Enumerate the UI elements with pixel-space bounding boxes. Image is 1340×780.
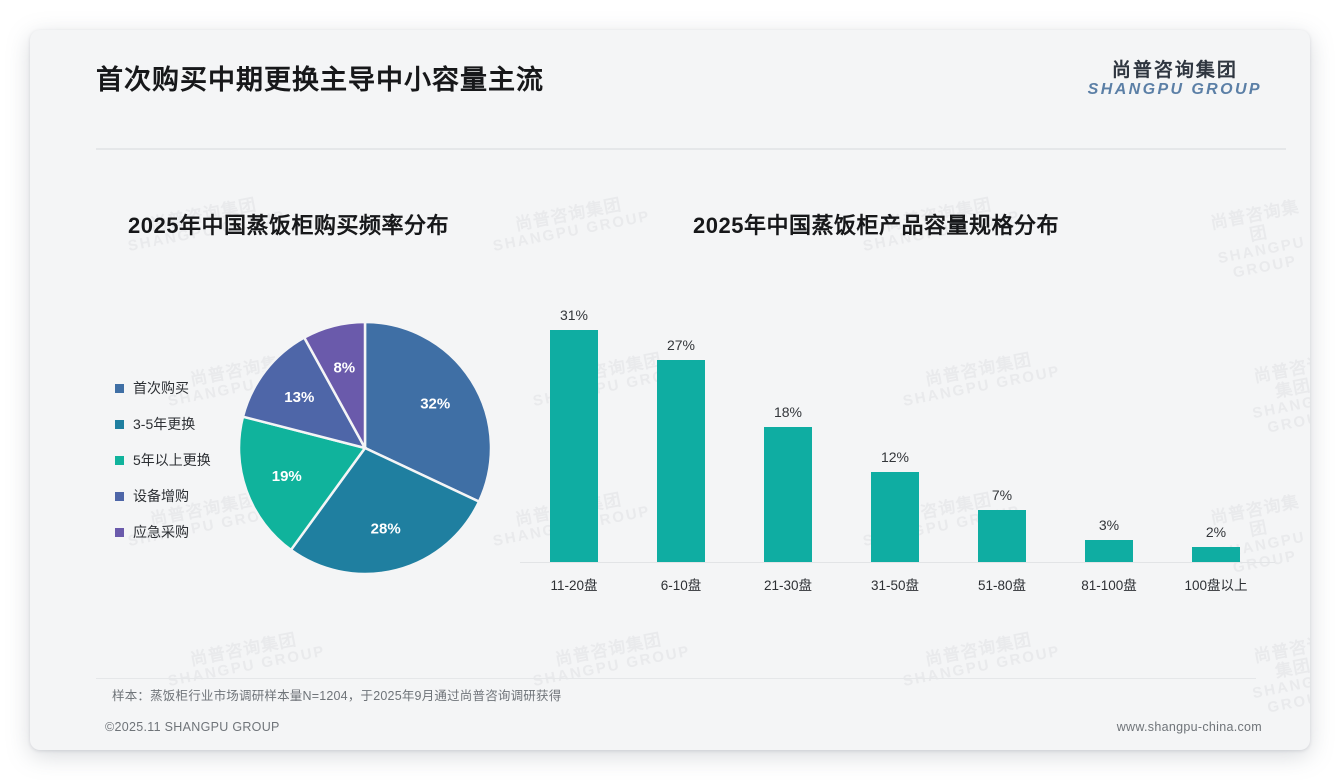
- watermark-text-en: SHANGPU GROUP: [532, 644, 692, 691]
- pie-chart-panel: 首次购买3-5年更换5年以上更换设备增购应急采购 32%28%19%13%8%: [70, 280, 540, 620]
- watermark-text-cn: 尚普咨询集团: [163, 625, 324, 674]
- bar-rect[interactable]: [871, 472, 919, 562]
- bar-value-label: 18%: [774, 404, 802, 420]
- bar-rect[interactable]: [1085, 540, 1133, 562]
- pie-legend-label: 3-5年更换: [133, 414, 195, 434]
- pie-slice-label: 28%: [371, 521, 401, 538]
- pie-chart: 32%28%19%13%8%: [235, 318, 495, 578]
- bar-column[interactable]: 27%: [637, 280, 725, 562]
- source-divider: [96, 678, 1256, 679]
- bar-axis-baseline: [520, 562, 1275, 563]
- pie-chart-title: 2025年中国蒸饭柜购买频率分布: [128, 208, 449, 240]
- watermark-text-en: SHANGPU GROUP: [167, 644, 327, 691]
- watermark-tile: 尚普咨询集团SHANGPU GROUP: [898, 625, 1062, 691]
- watermark-tile: 尚普咨询集团SHANGPU GROUP: [488, 190, 652, 256]
- legend-swatch-icon: [115, 384, 124, 393]
- company-logo: 尚普咨询集团 SHANGPU GROUP: [1088, 60, 1262, 99]
- bar-category-label: 81-100盘: [1065, 574, 1153, 594]
- watermark-tile: 尚普咨询集团SHANGPU GROUP: [528, 625, 692, 691]
- bar-column[interactable]: 31%: [530, 280, 618, 562]
- bar-category-label: 31-50盘: [851, 574, 939, 594]
- bar-chart-panel: 31%11-20盘27%6-10盘18%21-30盘12%31-50盘7%51-…: [490, 280, 1280, 610]
- pie-legend-item[interactable]: 3-5年更换: [115, 406, 255, 442]
- pie-slice-label: 13%: [284, 389, 314, 406]
- pie-legend-item[interactable]: 应急采购: [115, 514, 255, 550]
- footer-website: www.shangpu-china.com: [1117, 720, 1262, 734]
- watermark-text-cn: 尚普咨询集团: [488, 190, 649, 239]
- pie-legend: 首次购买3-5年更换5年以上更换设备增购应急采购: [115, 370, 255, 550]
- pie-legend-item[interactable]: 首次购买: [115, 370, 255, 406]
- watermark-text-en: SHANGPU GROUP: [1211, 233, 1310, 285]
- bar-value-label: 7%: [992, 487, 1012, 503]
- watermark-text-en: SHANGPU GROUP: [1251, 670, 1310, 720]
- watermark-tile: 尚普咨询集团SHANGPU GROUP: [1204, 196, 1310, 285]
- pie-legend-label: 首次购买: [133, 378, 189, 398]
- bar-column[interactable]: 7%: [958, 280, 1046, 562]
- pie-legend-label: 设备增购: [133, 486, 189, 506]
- pie-legend-label: 5年以上更换: [133, 450, 211, 470]
- pie-legend-item[interactable]: 设备增购: [115, 478, 255, 514]
- bar-category-label: 100盘以上: [1172, 574, 1260, 594]
- bar-category-label: 51-80盘: [958, 574, 1046, 594]
- bar-category-label: 21-30盘: [744, 574, 832, 594]
- bar-value-label: 27%: [667, 337, 695, 353]
- watermark-text-en: SHANGPU GROUP: [902, 644, 1062, 691]
- pie-slice-label: 32%: [420, 395, 450, 412]
- watermark-text-cn: 尚普咨询集团: [898, 625, 1059, 674]
- header-divider: [96, 148, 1286, 150]
- bar-rect[interactable]: [978, 510, 1026, 562]
- bar-column[interactable]: 18%: [744, 280, 832, 562]
- bar-value-label: 3%: [1099, 517, 1119, 533]
- bar-rect[interactable]: [550, 330, 598, 562]
- source-note: 样本：蒸饭柜行业市场调研样本量N=1204，于2025年9月通过尚普咨询调研获得: [112, 685, 561, 704]
- watermark-text-cn: 尚普咨询集团: [1204, 196, 1309, 252]
- logo-label-cn: 尚普咨询集团: [1088, 60, 1262, 81]
- slide-header: 首次购买中期更换主导中小容量主流 尚普咨询集团 SHANGPU GROUP: [30, 30, 1310, 122]
- legend-swatch-icon: [115, 456, 124, 465]
- page-title: 首次购买中期更换主导中小容量主流: [96, 58, 544, 97]
- footer-copyright: ©2025.11 SHANGPU GROUP: [105, 720, 280, 734]
- pie-slice-label: 8%: [333, 359, 355, 376]
- bar-category-label: 11-20盘: [530, 574, 618, 594]
- legend-swatch-icon: [115, 420, 124, 429]
- bar-plot-area: 31%11-20盘27%6-10盘18%21-30盘12%31-50盘7%51-…: [520, 280, 1270, 562]
- bar-column[interactable]: 2%: [1172, 280, 1260, 562]
- bar-category-label: 6-10盘: [637, 574, 725, 594]
- pie-chart-svg: 32%28%19%13%8%: [235, 318, 495, 578]
- pie-legend-label: 应急采购: [133, 522, 189, 542]
- watermark-text-cn: 尚普咨询集团: [528, 625, 689, 674]
- bar-rect[interactable]: [1192, 547, 1240, 562]
- legend-swatch-icon: [115, 492, 124, 501]
- bar-value-label: 31%: [560, 307, 588, 323]
- bar-value-label: 12%: [881, 449, 909, 465]
- pie-slice-label: 19%: [272, 468, 302, 485]
- watermark-text-en: SHANGPU GROUP: [492, 209, 652, 256]
- bar-column[interactable]: 3%: [1065, 280, 1153, 562]
- bar-chart-title: 2025年中国蒸饭柜产品容量规格分布: [693, 208, 1059, 240]
- bar-rect[interactable]: [657, 360, 705, 562]
- watermark-tile: 尚普咨询集团SHANGPU GROUP: [163, 625, 327, 691]
- watermark-tile: 尚普咨询集团SHANGPU GROUP: [1244, 632, 1310, 719]
- bar-rect[interactable]: [764, 427, 812, 562]
- bar-column[interactable]: 12%: [851, 280, 939, 562]
- bar-value-label: 2%: [1206, 524, 1226, 540]
- pie-legend-item[interactable]: 5年以上更换: [115, 442, 255, 478]
- slide-card: 尚普咨询集团SHANGPU GROUP尚普咨询集团SHANGPU GROUP尚普…: [30, 30, 1310, 750]
- logo-label-en: SHANGPU GROUP: [1088, 81, 1262, 99]
- legend-swatch-icon: [115, 528, 124, 537]
